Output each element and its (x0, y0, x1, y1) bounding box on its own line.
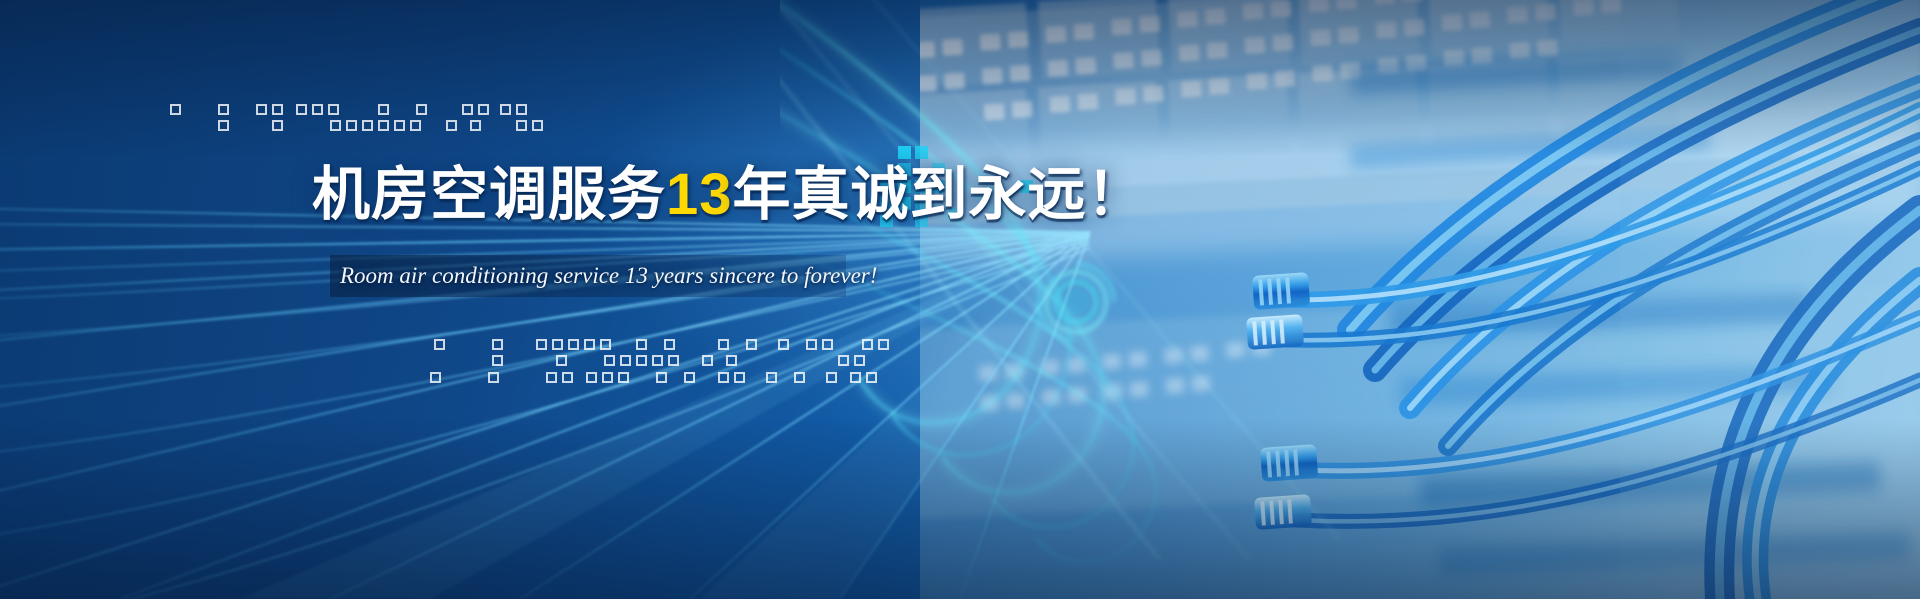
headline-highlight-years: 13 (666, 162, 733, 227)
page-title: 机房空调服务13年真诚到永远！ (312, 166, 1146, 224)
headline-prefix: 机房空调服务 (312, 162, 666, 227)
promo-banner: 机房空调服务13年真诚到永远！ Room air conditioning se… (0, 0, 1920, 599)
headline-suffix: 年真诚到永远！ (733, 162, 1146, 227)
text-block: 机房空调服务13年真诚到永远！ Room air conditioning se… (0, 0, 1100, 599)
subtitle: Room air conditioning service 13 years s… (340, 258, 877, 294)
